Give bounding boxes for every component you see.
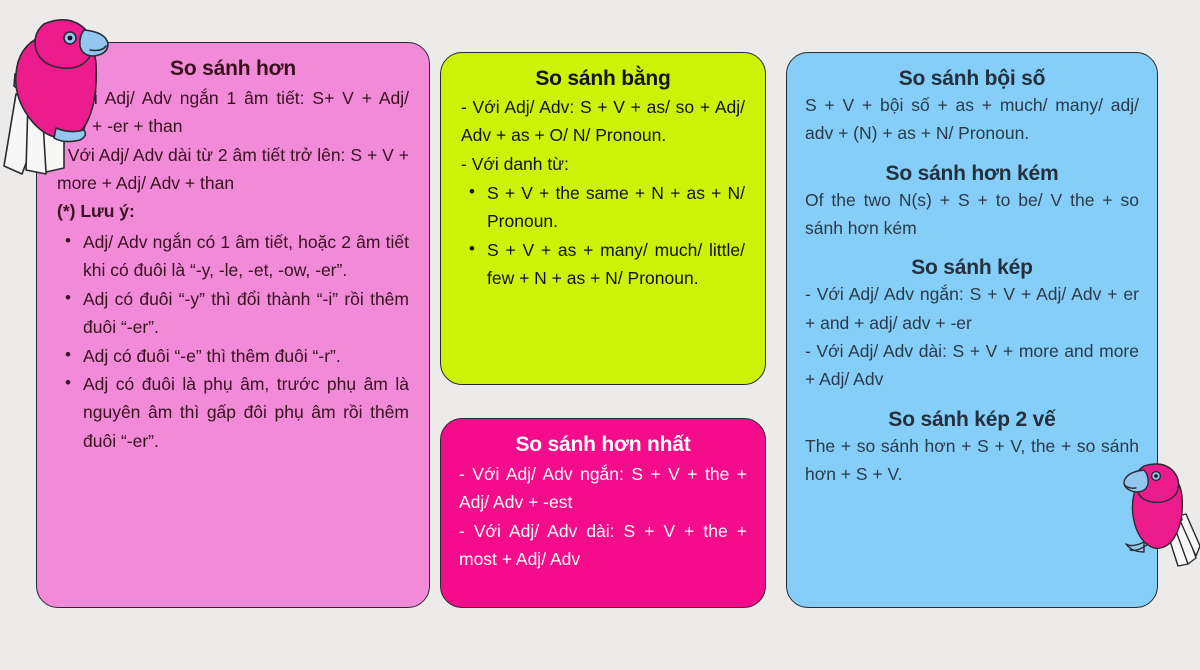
list-item: S + V + as + many/ much/ little/ few + N… bbox=[461, 236, 745, 293]
card-multiple-section-2-line-1: Of the two N(s) + S + to be/ V the + so … bbox=[805, 186, 1139, 243]
card-multiple-section-4-line-1: The + so sánh hơn + S + V, the + so sánh… bbox=[805, 432, 1139, 489]
card-multiple: So sánh bội số S + V + bội số + as + muc… bbox=[786, 52, 1158, 608]
card-multiple-section-1-heading: So sánh bội số bbox=[805, 67, 1139, 91]
card-equal-bullet-list: S + V + the same + N + as + N/ Pronoun. … bbox=[461, 179, 745, 292]
card-superlative-line-1: - Với Adj/ Adv ngắn: S + V + the + Adj/ … bbox=[459, 460, 747, 517]
list-item: Adj có đuôi “-e” thì thêm đuôi “-r”. bbox=[57, 342, 409, 370]
parrot-illustration bbox=[2, 6, 120, 178]
card-multiple-section-4-heading: So sánh kép 2 vế bbox=[805, 408, 1139, 432]
card-multiple-section-3-line-2: - Với Adj/ Adv dài: S + V + more and mor… bbox=[805, 337, 1139, 394]
card-multiple-section-2-heading: So sánh hơn kém bbox=[805, 162, 1139, 186]
card-superlative-line-2: - Với Adj/ Adv dài: S + V + the + most +… bbox=[459, 517, 747, 574]
list-item: Adj có đuôi “-y” thì đổi thành “-i” rồi … bbox=[57, 285, 409, 342]
card-multiple-section-1-line-1: S + V + bội số + as + much/ many/ adj/ a… bbox=[805, 91, 1139, 148]
card-comparative-bullet-list: Adj/ Adv ngắn có 1 âm tiết, hoặc 2 âm ti… bbox=[57, 228, 409, 455]
card-equal-heading: So sánh bằng bbox=[461, 67, 745, 91]
card-multiple-section-3-heading: So sánh kép bbox=[805, 256, 1139, 280]
card-equal-line-2: - Với danh từ: bbox=[461, 150, 745, 178]
list-item: Adj/ Adv ngắn có 1 âm tiết, hoặc 2 âm ti… bbox=[57, 228, 409, 285]
list-item: Adj có đuôi là phụ âm, trước phụ âm là n… bbox=[57, 370, 409, 455]
parrot-illustration bbox=[1118, 458, 1200, 570]
card-equal: So sánh bằng - Với Adj/ Adv: S + V + as/… bbox=[440, 52, 766, 385]
card-multiple-section-3-line-1: - Với Adj/ Adv ngắn: S + V + Adj/ Adv + … bbox=[805, 280, 1139, 337]
card-superlative-heading: So sánh hơn nhất bbox=[459, 433, 747, 457]
card-superlative: So sánh hơn nhất - Với Adj/ Adv ngắn: S … bbox=[440, 418, 766, 608]
infographic-board: So sánh hơn - Với Adj/ Adv ngắn 1 âm tiế… bbox=[0, 0, 1200, 670]
card-comparative-note-label: (*) Lưu ý: bbox=[57, 197, 409, 227]
list-item: S + V + the same + N + as + N/ Pronoun. bbox=[461, 179, 745, 236]
card-equal-line-1: - Với Adj/ Adv: S + V + as/ so + Adj/ Ad… bbox=[461, 93, 745, 150]
